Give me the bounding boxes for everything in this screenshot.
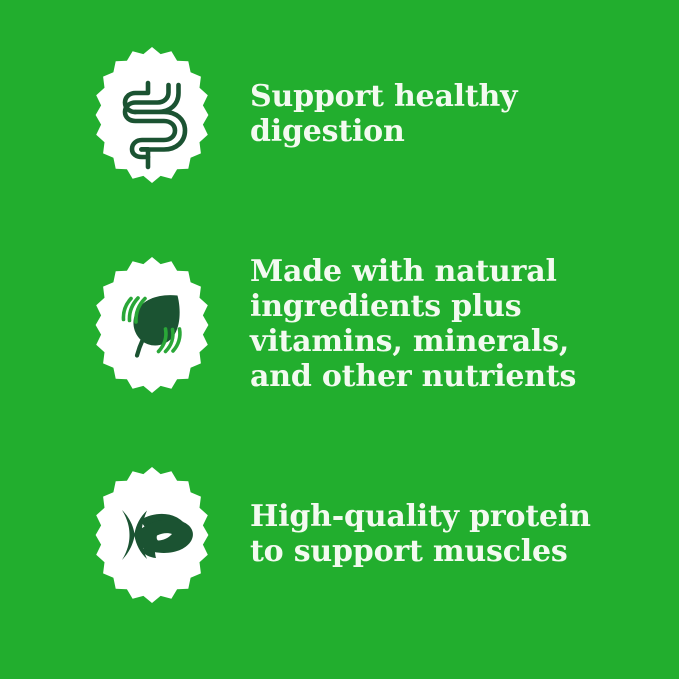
feature-row: Support healthy digestion [0,45,679,185]
feature-row: High-quality protein to support muscles [0,465,679,605]
badge-scallop-shape [96,47,209,183]
feature-text: High-quality protein to support muscles [250,500,679,570]
benefits-panel: Support healthy digestion [0,0,679,679]
feature-text: Made with natural ingredients plus vitam… [250,255,679,394]
scalloped-badge-natural [82,255,222,395]
feature-row: Made with natural ingredients plus vitam… [0,255,679,395]
scalloped-badge-digestion [82,45,222,185]
feature-text: Support healthy digestion [250,80,679,150]
scalloped-badge-protein [82,465,222,605]
